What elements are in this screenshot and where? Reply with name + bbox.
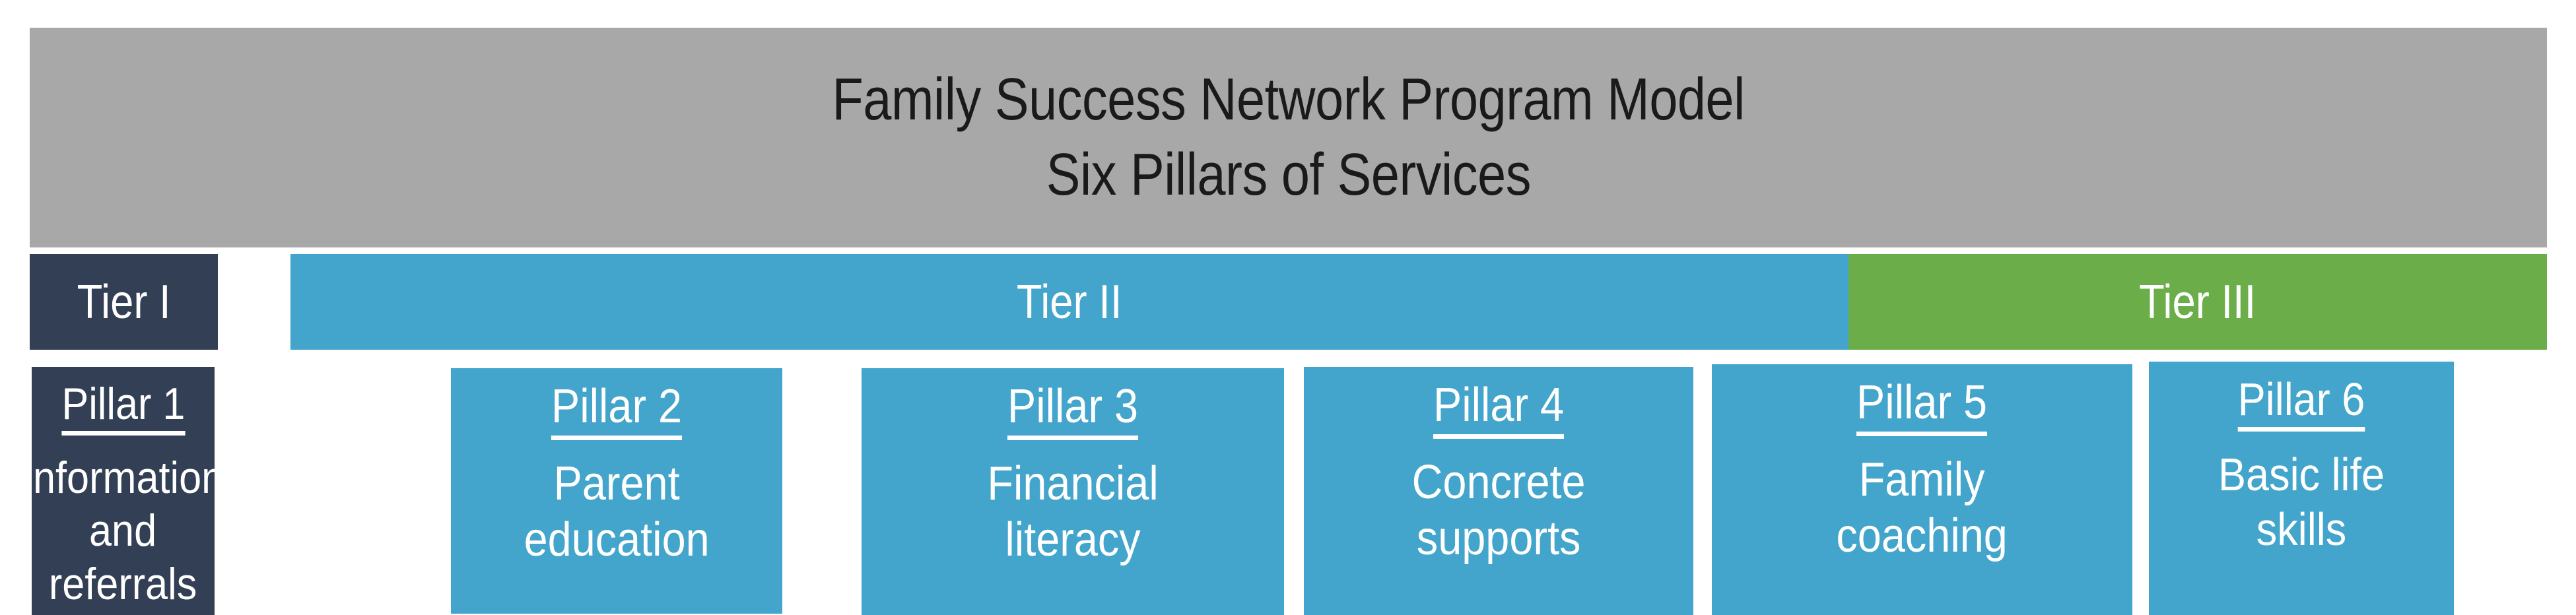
pillar-description-5: Family coaching (1837, 452, 2008, 564)
tier-band-tier-2[interactable]: Tier II (290, 254, 1848, 350)
pillar-title-5: Pillar 5 (1856, 376, 1987, 436)
tier-label-tier-2: Tier II (1017, 278, 1122, 326)
pillar-row: Pillar 1 Information and referrals Pilla… (0, 350, 2576, 615)
tier-band-tier-1[interactable]: Tier I (30, 254, 218, 350)
pillar-title-6: Pillar 6 (2238, 373, 2365, 432)
tier-label-tier-3: Tier III (2139, 278, 2256, 326)
pillar-title-1: Pillar 1 (61, 379, 185, 436)
pillar-card-3[interactable]: Pillar 3 Financial literacy (862, 368, 1284, 615)
pillar-title-2: Pillar 2 (551, 380, 682, 440)
pillar-description-2: Parent education (524, 456, 709, 568)
page-title-line-2: Six Pillars of Services (1046, 138, 1530, 212)
pillar-card-4[interactable]: Pillar 4 Concrete supports (1304, 367, 1693, 615)
pillar-description-3: Financial literacy (987, 456, 1158, 568)
page-title-line-1: Family Success Network Program Model (832, 63, 1744, 137)
pillar-card-1[interactable]: Pillar 1 Information and referrals (32, 367, 215, 615)
pillar-card-6[interactable]: Pillar 6 Basic life skills (2149, 362, 2454, 615)
pillar-card-2[interactable]: Pillar 2 Parent education (451, 368, 782, 614)
tier-band-tier-3[interactable]: Tier III (1848, 254, 2547, 350)
program-model-diagram: Family Success Network Program Model Six… (0, 0, 2576, 615)
pillar-card-5[interactable]: Pillar 5 Family coaching (1712, 364, 2132, 615)
pillar-description-6: Basic life skills (2218, 447, 2385, 556)
pillar-description-1: Information and referrals (32, 451, 215, 610)
tier-label-tier-1: Tier I (77, 278, 171, 326)
pillar-title-4: Pillar 4 (1433, 379, 1564, 439)
pillar-description-4: Concrete supports (1412, 455, 1586, 567)
diagram-header-banner: Family Success Network Program Model Six… (30, 28, 2547, 247)
tier-row: Tier I Tier II Tier III (0, 254, 2576, 350)
pillar-title-3: Pillar 3 (1007, 380, 1138, 440)
